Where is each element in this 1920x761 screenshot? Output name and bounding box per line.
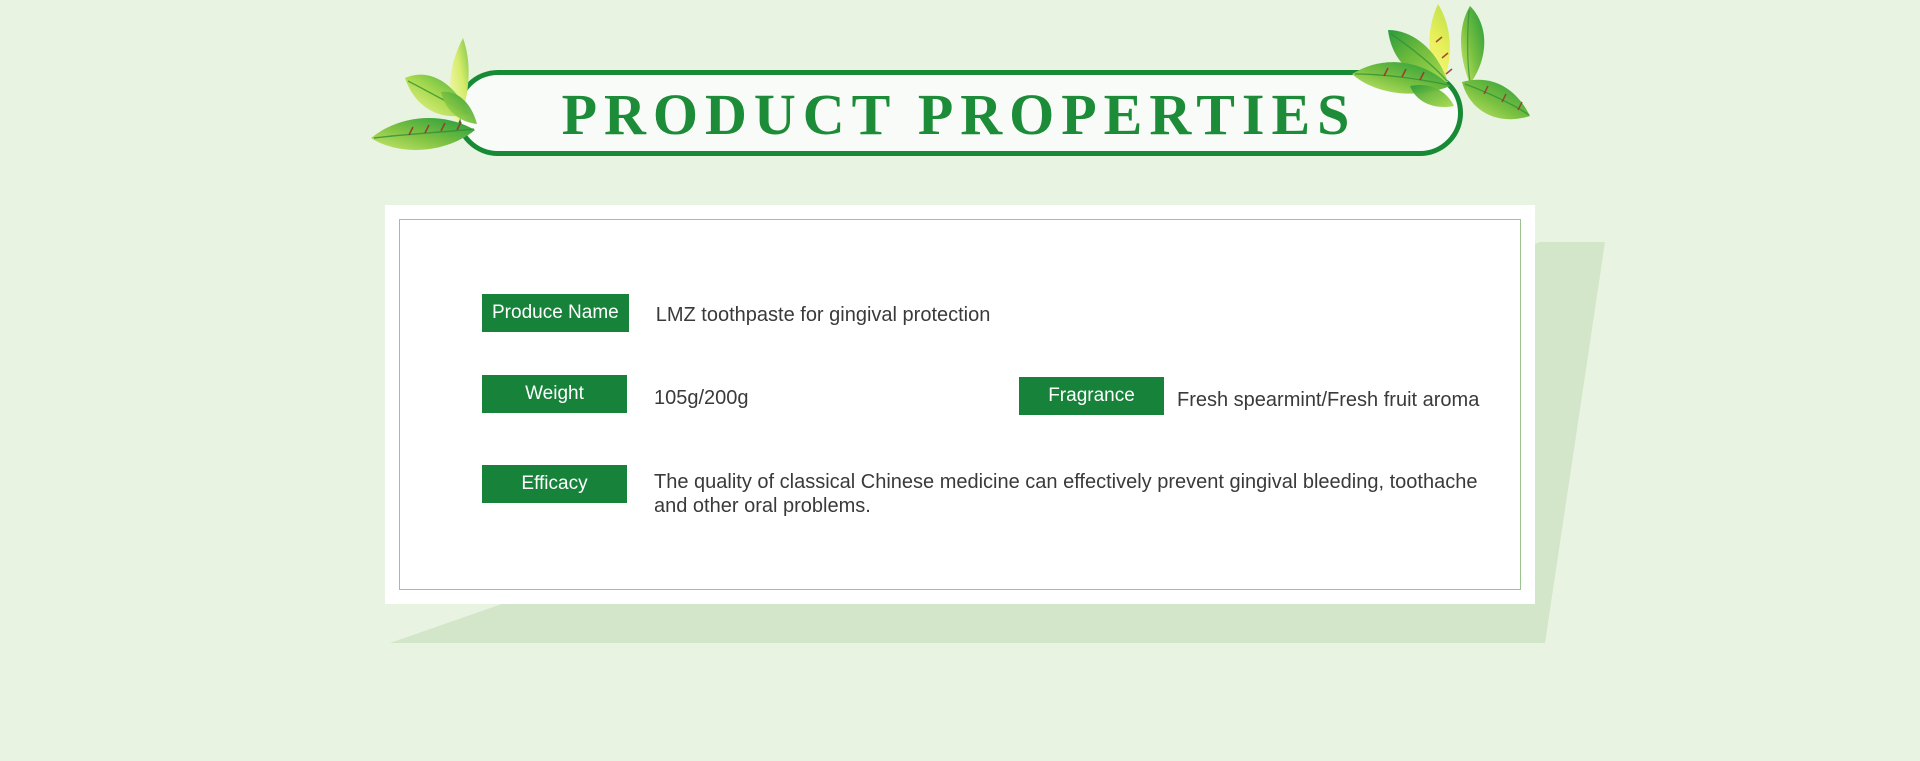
property-label-produce-name: Produce Name [482, 294, 629, 332]
property-row-produce-name: Produce Name LMZ toothpaste for gingival… [482, 294, 990, 332]
property-value-produce-name: LMZ toothpaste for gingival protection [656, 294, 991, 327]
property-row-efficacy: Efficacy The quality of classical Chines… [482, 465, 1477, 518]
properties-card: Produce Name LMZ toothpaste for gingival… [385, 205, 1535, 604]
title-pill: PRODUCT PROPERTIES [455, 70, 1463, 156]
property-value-efficacy: The quality of classical Chinese medicin… [654, 465, 1477, 518]
property-value-weight: 105g/200g [654, 375, 749, 410]
card-inner-frame: Produce Name LMZ toothpaste for gingival… [399, 219, 1521, 590]
property-label-fragrance: Fragrance [1019, 377, 1164, 415]
page-title: PRODUCT PROPERTIES [460, 75, 1458, 161]
property-value-fragrance: Fresh spearmint/Fresh fruit aroma [1177, 377, 1479, 412]
page-title-banner: PRODUCT PROPERTIES [400, 0, 1500, 170]
property-label-efficacy: Efficacy [482, 465, 627, 503]
property-row-fragrance: Fragrance Fresh spearmint/Fresh fruit ar… [1019, 377, 1479, 415]
property-row-weight: Weight 105g/200g [482, 375, 749, 413]
property-label-weight: Weight [482, 375, 627, 413]
product-properties-page: PRODUCT PROPERTIES [0, 0, 1920, 761]
